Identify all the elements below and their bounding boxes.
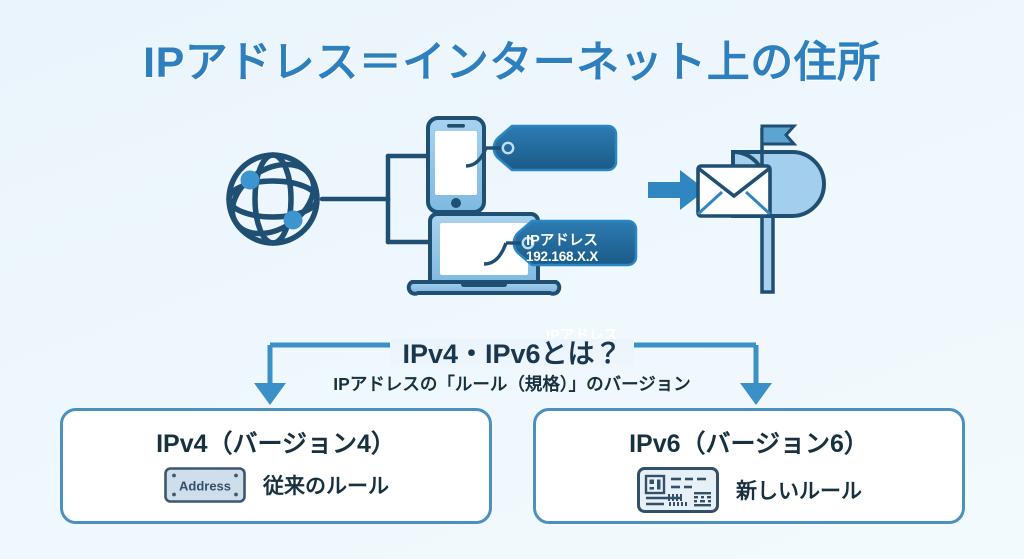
infographic-canvas: IPアドレス＝インターネット上の住所: [0, 0, 1024, 559]
version-intro-subtitle: IPアドレスの「ルール（規格）」のバージョン: [0, 371, 1024, 396]
version-card-ipv6: IPv6（バージョン6）: [533, 408, 965, 524]
version-intro-section: IPv4・IPv6とは？ IPアドレスの「ルール（規格）」のバージョン: [0, 320, 1024, 405]
network-diagram: IPアドレス 192.168.X.X IPアドレス 192.168.X.X: [0, 104, 1024, 304]
version-cards: IPv4（バージョン4） Address 従来のルール IPv6（バージョン6）: [0, 408, 1024, 528]
version-card-ipv4-title: IPv4（バージョン4）: [63, 424, 489, 460]
infographic-content: IPアドレス＝インターネット上の住所: [0, 0, 1024, 530]
license-plate-label: Address: [179, 479, 231, 494]
id-card-barcode-icon: [636, 466, 720, 514]
license-plate-address-icon: Address: [163, 466, 247, 504]
version-card-ipv4-note: 従来のルール: [263, 470, 389, 500]
connector-lines: [322, 156, 430, 242]
ip-tag-smartphone: [466, 126, 616, 170]
globe-network-icon: [220, 150, 326, 248]
version-card-ipv6-note: 新しいルール: [736, 475, 862, 505]
version-card-ipv4-detail: Address 従来のルール: [63, 466, 489, 504]
version-card-ipv6-title: IPv6（バージョン6）: [536, 424, 962, 460]
diagram-graphics: [0, 104, 1024, 304]
version-card-ipv6-detail: 新しいルール: [536, 466, 962, 514]
page-title: IPアドレス＝インターネット上の住所: [0, 28, 1024, 90]
version-intro-heading: IPv4・IPv6とは？: [0, 332, 1024, 371]
version-card-ipv4: IPv4（バージョン4） Address 従来のルール: [60, 408, 492, 524]
mailbox-with-envelope-icon: [698, 126, 824, 292]
